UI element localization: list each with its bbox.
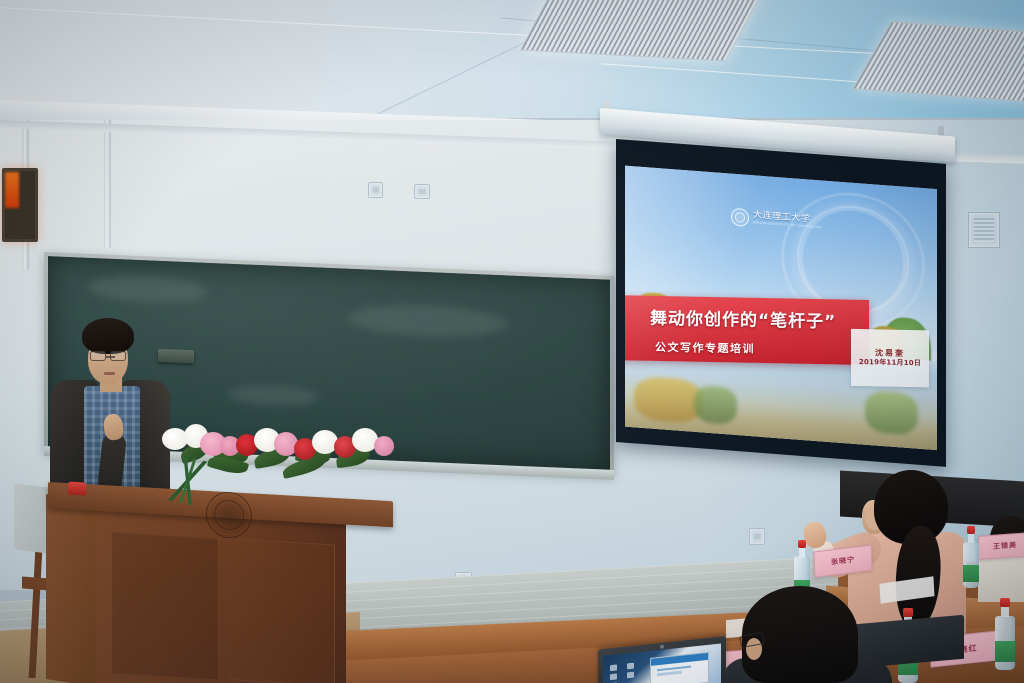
university-logo-mark-icon bbox=[731, 208, 749, 227]
bottle-cap-icon bbox=[967, 526, 975, 534]
ceiling-light-panel bbox=[852, 21, 1024, 102]
projection-screen: 大连理工大学 DALIAN UNIVERSITY OF TECHNOLOGY 舞… bbox=[616, 139, 946, 467]
slide-date: 2019年11月10日 bbox=[859, 359, 921, 367]
wall-speaker-box bbox=[968, 212, 1000, 248]
exit-sign-glow-icon bbox=[5, 172, 19, 208]
water-bottle[interactable] bbox=[995, 598, 1015, 670]
bottle-cap-icon bbox=[903, 608, 913, 617]
bottle-cap-icon bbox=[1000, 598, 1010, 607]
ceiling bbox=[0, 0, 1024, 118]
name-card: 王锦美 bbox=[978, 532, 1024, 560]
wall-conduit bbox=[104, 120, 111, 248]
slide-subtitle: 公文写作专题培训 bbox=[655, 339, 755, 357]
bottle-cap-icon bbox=[798, 540, 806, 548]
presenter-mouth bbox=[104, 372, 115, 375]
laptop-window-titlebar bbox=[651, 653, 708, 665]
slide-presenter-box: 沈易奎 2019年11月10日 bbox=[851, 328, 929, 387]
audience-man-foreground bbox=[742, 586, 872, 683]
lecture-hall-photo: 大连理工大学 DALIAN UNIVERSITY OF TECHNOLOGY 舞… bbox=[0, 0, 1024, 683]
slide-presenter-name: 沈易奎 bbox=[875, 349, 905, 358]
eyeglasses-icon bbox=[90, 351, 126, 359]
laptop-screen bbox=[603, 644, 721, 683]
name-card-text: 张晓宁 bbox=[831, 555, 855, 568]
wall-switch[interactable] bbox=[414, 184, 430, 199]
laptop-webcam-icon bbox=[660, 645, 664, 649]
presenter-hair bbox=[82, 318, 134, 354]
flower-pink bbox=[374, 436, 394, 456]
slide-title: 舞动你创作的“笔杆子” bbox=[650, 303, 836, 332]
palm-frond bbox=[162, 454, 215, 508]
podium-microphone-icon[interactable] bbox=[68, 482, 86, 496]
projected-slide: 大连理工大学 DALIAN UNIVERSITY OF TECHNOLOGY 舞… bbox=[625, 166, 937, 450]
podium-side-panel bbox=[46, 494, 102, 683]
laptop-window-row bbox=[657, 671, 682, 676]
slide-reflection bbox=[694, 385, 738, 425]
ceiling-light-panel bbox=[520, 0, 764, 62]
podium-front-panel bbox=[112, 532, 219, 681]
floral-arrangement bbox=[150, 414, 400, 490]
podium-front-panel bbox=[228, 538, 335, 683]
laptop-window bbox=[650, 652, 709, 683]
water-bottle[interactable] bbox=[963, 526, 979, 588]
slide-reflection bbox=[865, 390, 918, 436]
name-card-text: 王锦美 bbox=[993, 540, 1017, 552]
wall-outlet[interactable] bbox=[368, 182, 383, 198]
presenter-brow bbox=[106, 356, 115, 358]
